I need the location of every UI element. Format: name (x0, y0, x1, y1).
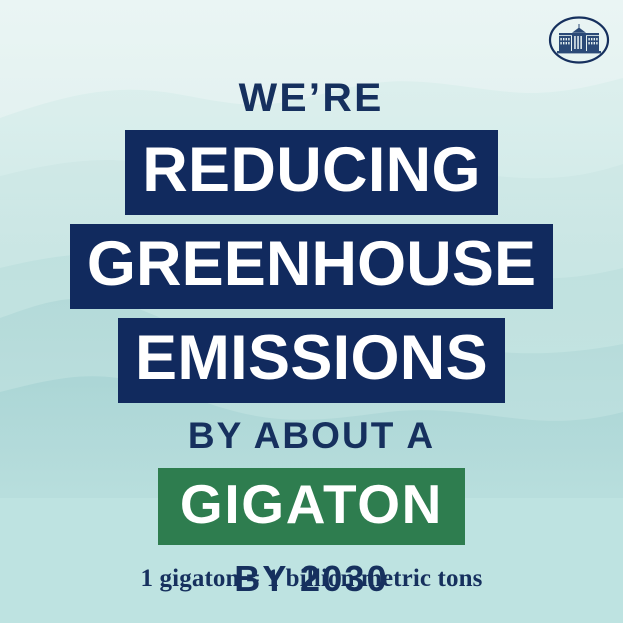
headline-line-reducing: REDUCING (125, 130, 498, 215)
headline-line-were: WE’RE (239, 78, 384, 118)
headline-line-gigaton: GIGATON (158, 468, 465, 545)
footnote-definition: 1 gigaton = 1 billion metric tons (0, 565, 623, 593)
headline-line-by-about-a: BY ABOUT A (188, 417, 435, 454)
headline-stack: WE’RE REDUCING GREENHOUSE EMISSIONS BY A… (0, 0, 623, 623)
headline-line-greenhouse: GREENHOUSE (70, 224, 553, 309)
headline-line-emissions: EMISSIONS (118, 318, 505, 403)
poster: WE’RE REDUCING GREENHOUSE EMISSIONS BY A… (0, 0, 623, 623)
